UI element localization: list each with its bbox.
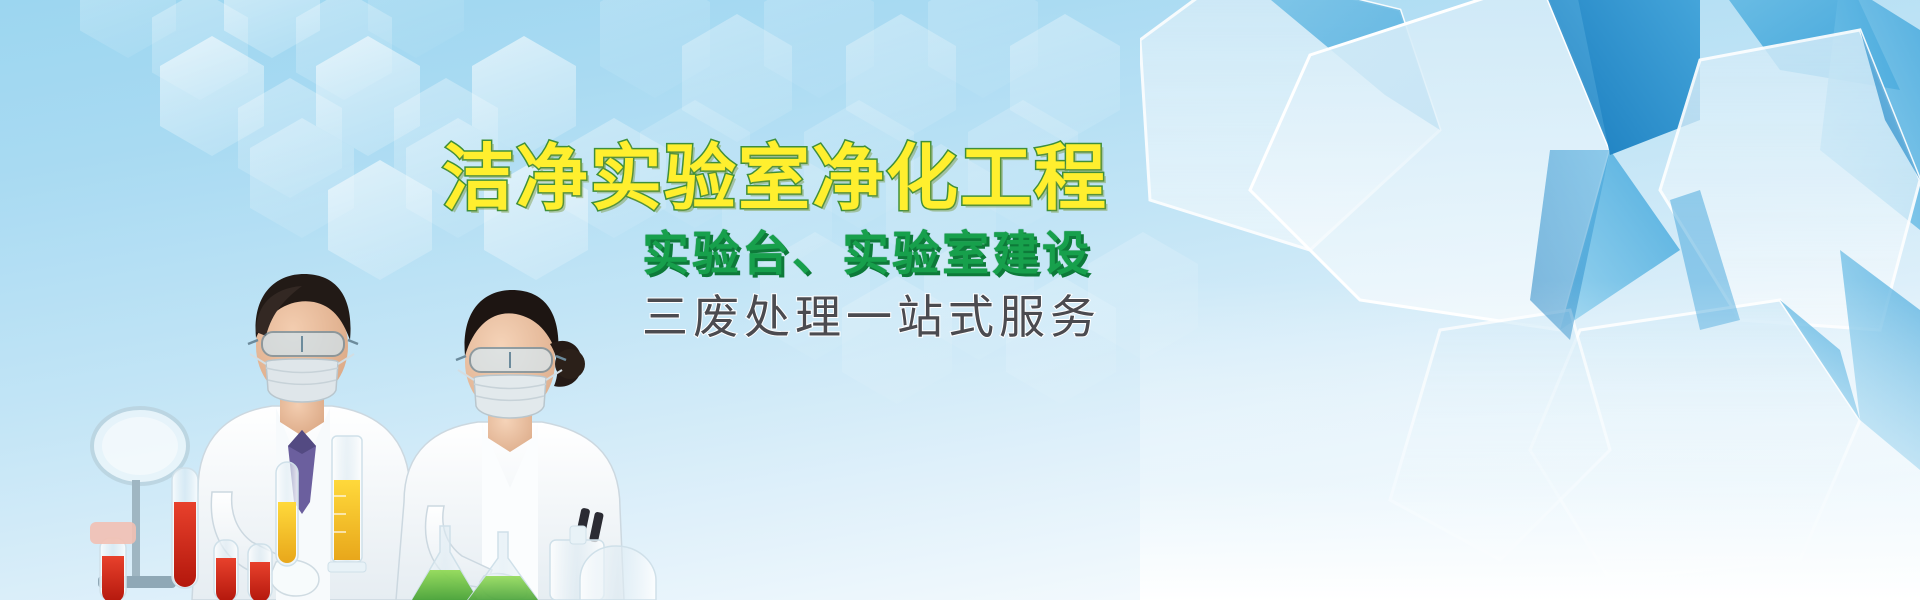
hexagon-shape [224,0,320,58]
lab-scientists-photo [80,240,800,600]
hexagon-shape [764,0,874,98]
hexagon-shape [238,78,342,198]
hexagon-shape [316,36,420,156]
laboratory-purification-banner: 洁净实验室净化工程 实验台、实验室建设 三废处理一站式服务 [0,0,1920,600]
graduated-cylinder-yellow [328,436,366,572]
hexagon-shape [682,14,792,142]
hexagon-shape [846,14,956,142]
hexagon-shape [368,0,464,58]
blue-crystal-graphic [1140,0,1920,600]
hexagon-shape [928,0,1038,98]
hexagon-shape [250,118,354,238]
page-title: 洁净实验室净化工程 [442,140,1182,216]
hexagon-shape [160,36,264,156]
hexagon-shape [296,0,392,100]
hexagon-shape [600,0,710,98]
test-tube-yellow-left [276,462,298,566]
hexagon-shape [1010,14,1120,142]
hexagon-shape [80,0,176,58]
safety-goggles [248,332,358,356]
safety-goggles [456,348,566,372]
hexagon-shape [152,0,248,100]
